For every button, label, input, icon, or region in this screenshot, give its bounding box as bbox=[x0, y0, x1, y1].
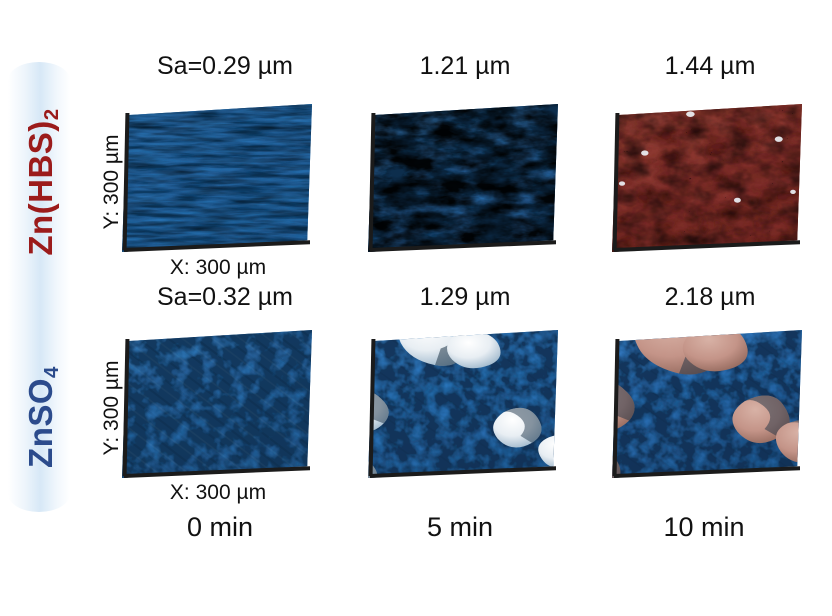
afm-surface-zn-hbs-5min bbox=[368, 104, 558, 252]
sa-label-row1-col2: 1.21 µm bbox=[355, 52, 575, 81]
axis-label-x-row2: X: 300 µm bbox=[128, 481, 308, 505]
afm-panel-zn-hbs-10min[interactable] bbox=[612, 104, 802, 252]
afm-surface-znso4-10min bbox=[612, 330, 802, 478]
afm-texture-blue-white-protrusions bbox=[368, 330, 558, 478]
axis-label-y-row2: Y: 300 µm bbox=[100, 338, 124, 478]
row-label-znso4: ZnSO4 bbox=[22, 292, 60, 542]
axis-label-y-row1: Y: 300 µm bbox=[100, 112, 124, 252]
time-label-col1: 0 min bbox=[130, 512, 310, 543]
afm-panel-znso4-5min[interactable] bbox=[368, 330, 558, 478]
row-label-znso4-subscript: 4 bbox=[40, 366, 63, 378]
sa-label-row1-col3: 1.44 µm bbox=[600, 52, 820, 81]
afm-texture-rough-blue bbox=[368, 104, 558, 252]
row-label-zn-hbs-2: Zn(HBS)2 bbox=[22, 57, 60, 307]
afm-texture-blue-tan-protrusions bbox=[612, 330, 802, 478]
afm-surface-znso4-5min bbox=[368, 330, 558, 478]
row-label-znso4-text: ZnSO bbox=[22, 378, 59, 468]
sa-label-row1-col1: Sa=0.29 µm bbox=[115, 52, 335, 81]
afm-panel-znso4-10min[interactable] bbox=[612, 330, 802, 478]
afm-texture-diagonal-striations bbox=[122, 330, 312, 478]
afm-texture-red-speckled bbox=[612, 104, 802, 252]
afm-panel-znso4-0min[interactable] bbox=[122, 330, 312, 478]
row-label-zn-hbs-2-text: Zn(HBS) bbox=[22, 120, 59, 255]
afm-panel-zn-hbs-5min[interactable] bbox=[368, 104, 558, 252]
afm-surface-znso4-0min bbox=[122, 330, 312, 478]
afm-panel-zn-hbs-0min[interactable] bbox=[122, 104, 312, 252]
sa-label-row2-col1: Sa=0.32 µm bbox=[115, 283, 335, 312]
time-label-col2: 5 min bbox=[370, 512, 550, 543]
sa-label-row2-col2: 1.29 µm bbox=[355, 283, 575, 312]
sa-label-row2-col3: 2.18 µm bbox=[600, 283, 820, 312]
afm-texture-smooth-blue bbox=[122, 104, 312, 252]
afm-surface-zn-hbs-0min bbox=[122, 104, 312, 252]
afm-surface-zn-hbs-10min bbox=[612, 104, 802, 252]
time-label-col3: 10 min bbox=[614, 512, 794, 543]
axis-label-x-row1: X: 300 µm bbox=[128, 256, 308, 280]
figure-card: Zn(HBS)2 ZnSO4 Sa=0.29 µm 1.21 µm 1.44 µ… bbox=[0, 0, 832, 616]
row-label-zn-hbs-2-subscript: 2 bbox=[40, 108, 63, 120]
